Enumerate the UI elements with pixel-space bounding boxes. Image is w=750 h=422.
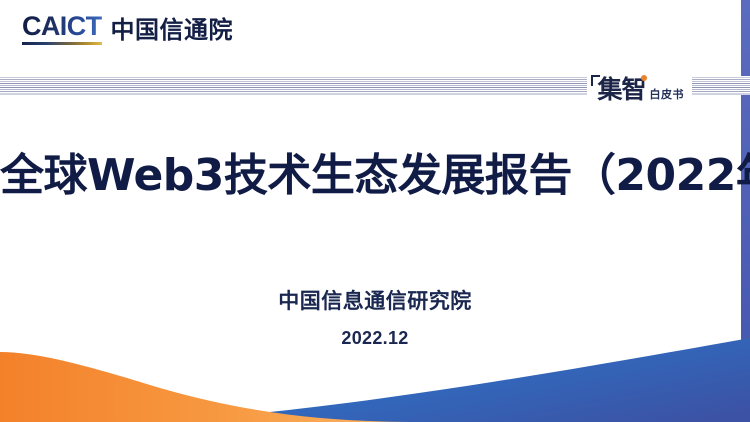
caict-chinese-name: 中国信通院 bbox=[111, 18, 234, 45]
report-cover-slide: CAICT 中国信通院 集智 白皮书 全球Web3技术生态发展报告（2022年）… bbox=[0, 0, 750, 422]
background-artwork bbox=[0, 0, 750, 422]
jizhi-seal-icon: 集智 bbox=[597, 77, 645, 102]
publication-date: 2022.12 bbox=[0, 328, 750, 350]
caict-logo-mark: CAICT bbox=[22, 13, 102, 45]
orange-sweep-shape bbox=[0, 352, 420, 422]
jizhi-seal-text: 集智 bbox=[597, 75, 645, 104]
right-edge-strip bbox=[741, 0, 750, 422]
page-title: 全球Web3技术生态发展报告（2022年） bbox=[0, 150, 750, 202]
whitepaper-badge: 集智 白皮书 bbox=[597, 68, 684, 102]
seal-bracket-icon bbox=[591, 75, 600, 86]
whitepaper-label: 白皮书 bbox=[650, 89, 685, 102]
slide-header: CAICT 中国信通院 bbox=[0, 0, 750, 60]
publishing-organization: 中国信息通信研究院 bbox=[0, 289, 750, 314]
striped-rule-left-segment bbox=[0, 76, 587, 95]
caict-acronym: CAICT bbox=[22, 11, 102, 41]
striped-rule-right-segment bbox=[692, 76, 750, 95]
caict-logo: CAICT 中国信通院 bbox=[22, 13, 233, 45]
blue-sweep-shape bbox=[150, 338, 750, 422]
seal-orange-dot-icon bbox=[641, 75, 647, 81]
caict-underline-decoration bbox=[22, 42, 102, 45]
